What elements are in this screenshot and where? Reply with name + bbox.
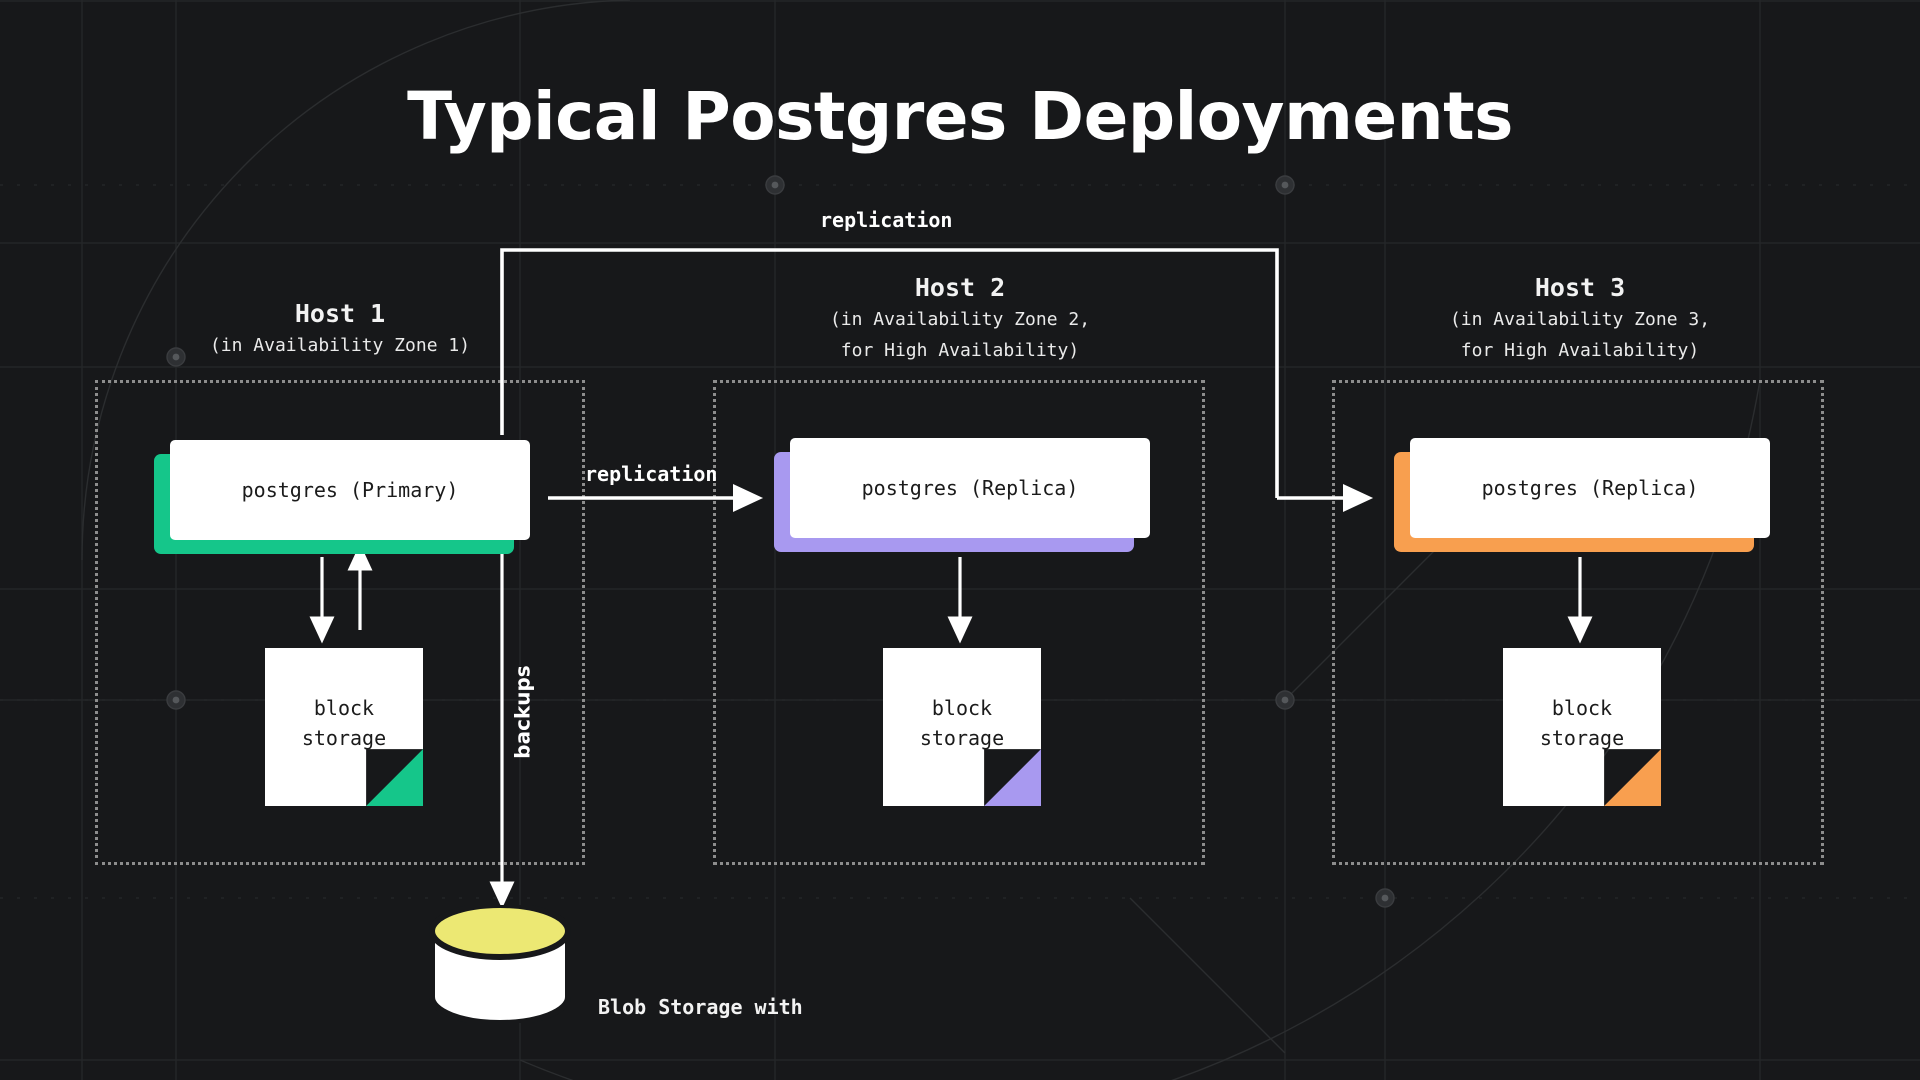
storage-label: block storage: [1503, 648, 1661, 806]
blob-storage-cylinder[interactable]: [428, 905, 572, 1023]
block-storage-2[interactable]: block storage: [883, 648, 1041, 806]
node-postgres-primary[interactable]: postgres (Primary): [170, 440, 530, 540]
storage-label-line: storage: [1540, 723, 1624, 753]
host-sub-line: for High Availability): [760, 335, 1160, 366]
node-card[interactable]: postgres (Replica): [1410, 438, 1770, 538]
block-storage-3[interactable]: block storage: [1503, 648, 1661, 806]
node-card[interactable]: postgres (Replica): [790, 438, 1150, 538]
blob-caption-line: Blob Storage with: [598, 992, 803, 1023]
node-postgres-replica-2[interactable]: postgres (Replica): [790, 438, 1150, 538]
mid-replication-label: replication: [585, 462, 717, 486]
host-heading-2: Host 2 (in Availability Zone 2, for High…: [760, 272, 1160, 366]
storage-label: block storage: [265, 648, 423, 806]
storage-label-line: storage: [302, 723, 386, 753]
host-heading-3: Host 3 (in Availability Zone 3, for High…: [1380, 272, 1780, 366]
storage-label-line: block: [314, 693, 374, 723]
host-heading-1: Host 1 (in Availability Zone 1): [140, 298, 540, 361]
host-name: Host 2: [760, 272, 1160, 304]
storage-label-line: block: [1552, 693, 1612, 723]
host-sub-line: for High Availability): [1380, 335, 1780, 366]
storage-label: block storage: [883, 648, 1041, 806]
backups-label: backups: [511, 665, 535, 758]
node-card[interactable]: postgres (Primary): [170, 440, 530, 540]
diagram-canvas: Typical Postgres Deployments replication…: [0, 0, 1920, 1080]
storage-label-line: block: [932, 693, 992, 723]
host-sub-line: (in Availability Zone 1): [140, 330, 540, 361]
blob-storage-caption: Blob Storage with Backups (i.e. S3): [598, 930, 803, 1080]
host-name: Host 3: [1380, 272, 1780, 304]
host-sub-line: (in Availability Zone 3,: [1380, 304, 1780, 335]
page-title: Typical Postgres Deployments: [0, 78, 1920, 155]
node-postgres-replica-3[interactable]: postgres (Replica): [1410, 438, 1770, 538]
top-replication-label: replication: [820, 208, 952, 232]
host-name: Host 1: [140, 298, 540, 330]
block-storage-1[interactable]: block storage: [265, 648, 423, 806]
storage-label-line: storage: [920, 723, 1004, 753]
host-sub-line: (in Availability Zone 2,: [760, 304, 1160, 335]
